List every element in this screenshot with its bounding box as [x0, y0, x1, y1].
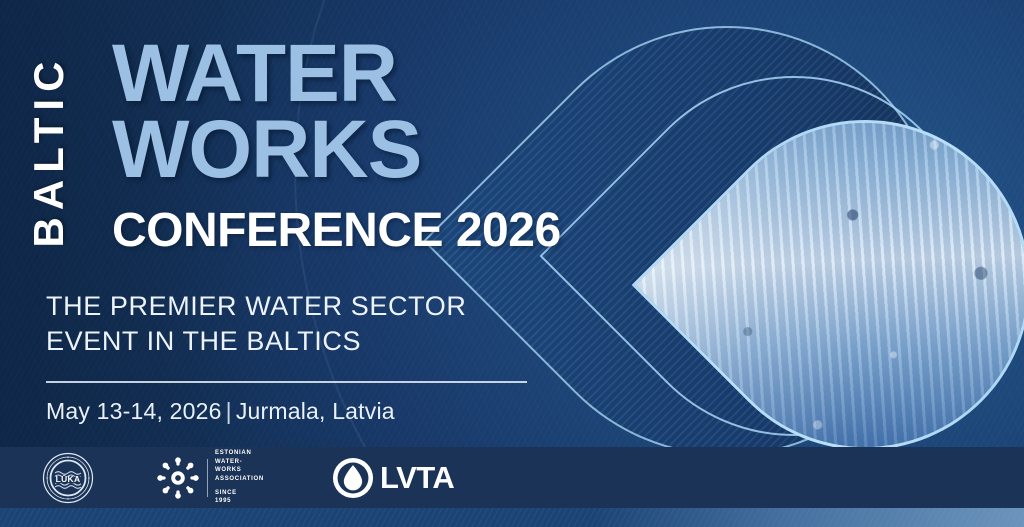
title-group: WATER WORKS CONFERENCE 2026: [112, 36, 561, 255]
logo-divider: [207, 459, 208, 497]
divider-rule: [46, 381, 527, 383]
title-line-conference-year: CONFERENCE 2026: [112, 207, 561, 255]
water-droplet-circle-icon: [332, 457, 374, 499]
conference-banner: BALTIC WATER WORKS CONFERENCE 2026 THE P…: [0, 0, 1024, 527]
evel-wordmark: ESTONIAN WATER- WORKS ASSOCIATION SINCE …: [215, 449, 264, 506]
logo-group: LŪKA: [0, 449, 454, 506]
date-location-separator: |: [222, 398, 236, 424]
bottom-strip-water-glow: [594, 508, 1024, 527]
svg-text:LŪKA: LŪKA: [56, 474, 81, 484]
lvta-wordmark: LVTA: [380, 462, 454, 493]
vertical-baltic-label: BALTIC: [28, 36, 70, 266]
event-location: Jurmala, Latvia: [236, 398, 395, 424]
lvta-logo[interactable]: LVTA: [332, 457, 454, 499]
evel-line-2: WATER-: [215, 458, 264, 467]
evel-line-4: ASSOCIATION: [215, 475, 264, 484]
luka-seal-logo[interactable]: LŪKA: [42, 452, 94, 504]
evel-since-year: 1995: [215, 497, 264, 506]
title-line-works: WORKS: [112, 112, 561, 188]
subtitle-line-1: THE PREMIER WATER SECTOR: [46, 289, 466, 324]
subtitle: THE PREMIER WATER SECTOR EVENT IN THE BA…: [46, 289, 466, 358]
estonian-waterworks-association-logo[interactable]: ESTONIAN WATER- WORKS ASSOCIATION SINCE …: [156, 449, 264, 506]
evel-line-3: WORKS: [215, 466, 264, 475]
evel-line-1: ESTONIAN: [215, 449, 264, 458]
subtitle-line-2: EVENT IN THE BALTICS: [46, 324, 466, 359]
title-line-water: WATER: [112, 36, 561, 112]
evel-since-label: SINCE: [215, 489, 264, 498]
gear-waterwheel-icon: [156, 456, 200, 500]
headline-block: BALTIC WATER WORKS CONFERENCE 2026 THE P…: [0, 0, 600, 440]
bottom-accent-strip: [0, 508, 1024, 527]
event-date: May 13-14, 2026: [46, 398, 222, 424]
circular-seal-icon: LŪKA: [42, 452, 94, 504]
date-location-line: May 13-14, 2026|Jurmala, Latvia: [46, 398, 395, 425]
sponsor-logo-bar: LŪKA: [0, 447, 1024, 508]
